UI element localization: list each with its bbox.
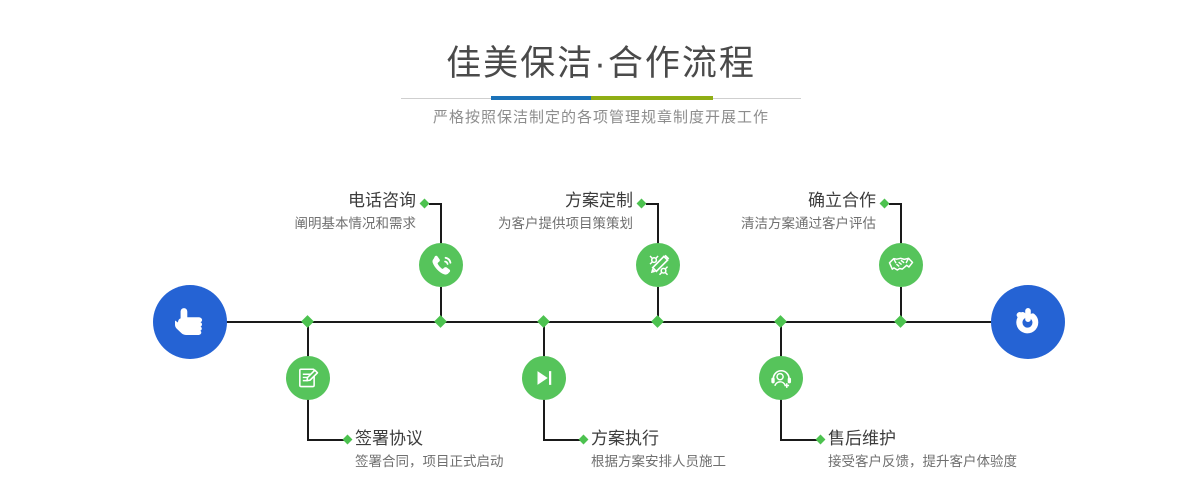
step-node-phone-consult[interactable] [419,243,463,287]
step-node-after-sales[interactable] [759,356,803,400]
step-label-after-sales: 售后维护 接受客户反馈，提升客户体验度 [828,428,1158,472]
step-desc: 接受客户反馈，提升客户体验度 [828,452,1158,472]
axis-node-after-sales [774,315,787,328]
step-node-sign-agreement[interactable] [286,356,330,400]
connector-stem-sign-agreement-down [307,398,309,440]
handshake-icon [887,251,915,279]
axis-node-plan-design [651,315,664,328]
step-title: 确立合作 [610,190,876,212]
step-node-plan-execute[interactable] [522,356,566,400]
axis-node-plan-execute [537,315,550,328]
sign-document-icon [295,365,321,391]
step-title: 售后维护 [828,428,1158,450]
support-headset-icon [768,365,794,391]
flow-end-endpoint[interactable] [991,285,1065,359]
step-title: 方案定制 [370,190,633,212]
play-execute-icon [531,365,557,391]
flow-start-endpoint[interactable] [153,285,227,359]
step-node-confirm-cooperation[interactable] [879,243,923,287]
phone-call-icon [428,252,455,279]
connector-arm-confirm-cooperation [889,203,902,205]
step-desc: 为客户提供项目策策划 [370,214,633,234]
axis-node-sign-agreement [301,315,314,328]
power-icon [1008,302,1048,342]
axis-node-confirm-cooperation [894,315,907,328]
pencil-design-icon [645,252,672,279]
step-label-plan-design: 方案定制 为客户提供项目策策划 [370,190,633,234]
step-label-confirm-cooperation: 确立合作 清洁方案通过客户评估 [610,190,876,234]
connector-arm-sign-agreement [307,439,347,441]
connector-diamond-confirm-cooperation [880,199,890,209]
step-node-plan-design[interactable] [636,243,680,287]
pointing-hand-icon [170,302,210,342]
flowchart-page: 佳美保洁·合作流程 严格按照保洁制定的各项管理规章制度开展工作 [0,0,1202,502]
connector-diamond-sign-agreement [343,435,353,445]
axis-node-phone-consult [434,315,447,328]
step-desc: 清洁方案通过客户评估 [610,214,876,234]
connector-stem-confirm-cooperation-up [900,203,902,245]
process-flow-diagram: 电话咨询 阐明基本情况和需求 方案定制 为客 [0,0,1202,502]
